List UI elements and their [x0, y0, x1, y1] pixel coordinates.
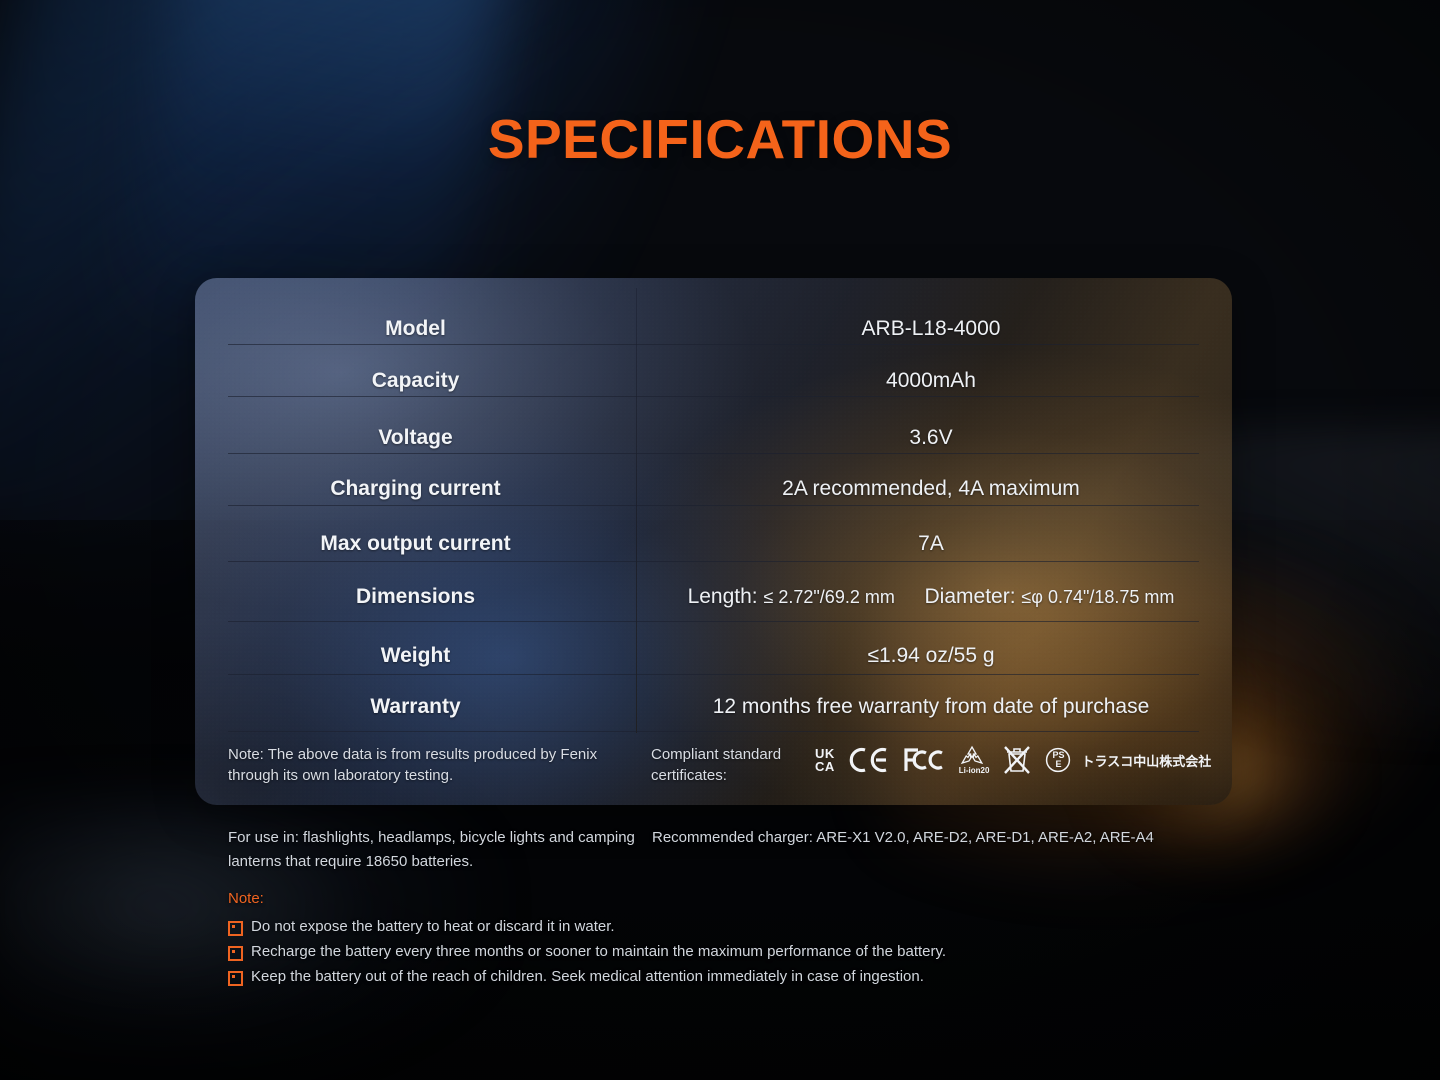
row-label: Weight	[195, 644, 636, 668]
bullet-square-icon	[228, 946, 243, 961]
spec-table: Model ARB-L18-4000 Capacity 4000mAh Volt…	[195, 278, 1232, 805]
laboratory-note: Note: The above data is from results pro…	[228, 744, 608, 786]
dimensions-diameter-value: ≤φ 0.74"/18.75 mm	[1021, 587, 1174, 607]
dimensions-length-label: Length:	[688, 585, 758, 608]
row-divider	[228, 731, 1199, 732]
for-use-in-text: For use in: flashlights, headlamps, bicy…	[228, 826, 643, 874]
specifications-page: SPECIFICATIONS Model ARB-L18-4000 Capaci…	[0, 0, 1440, 1080]
bullet-square-icon	[228, 921, 243, 936]
fcc-mark	[903, 747, 945, 773]
table-row: Model ARB-L18-4000	[195, 306, 1232, 352]
row-divider	[228, 396, 1199, 397]
row-value: ARB-L18-4000	[636, 317, 1232, 341]
row-value: ≤1.94 oz/55 g	[636, 644, 1232, 668]
row-divider	[228, 674, 1199, 675]
row-label: Warranty	[195, 695, 636, 719]
table-row: Dimensions Length: ≤ 2.72"/69.2 mm Diame…	[195, 574, 1232, 620]
row-label: Voltage	[195, 426, 636, 450]
pse-line-2: E	[1055, 760, 1061, 769]
table-row: Voltage 3.6V	[195, 415, 1232, 461]
row-label: Capacity	[195, 369, 636, 393]
pse-mark: PS E	[1045, 747, 1071, 773]
row-value: 12 months free warranty from date of pur…	[636, 695, 1232, 719]
notes-heading: Note:	[228, 890, 264, 907]
table-row: Capacity 4000mAh	[195, 358, 1232, 404]
page-title: SPECIFICATIONS	[0, 107, 1440, 171]
note-text: Keep the battery out of the reach of chi…	[251, 965, 924, 988]
row-value: 2A recommended, 4A maximum	[636, 477, 1232, 501]
table-row: Weight ≤1.94 oz/55 g	[195, 633, 1232, 679]
row-divider	[228, 505, 1199, 506]
dimensions-length-value: ≤ 2.72"/69.2 mm	[764, 587, 895, 607]
certificate-marks: UK CA	[815, 743, 1211, 777]
bullet-square-icon	[228, 971, 243, 986]
list-item: Keep the battery out of the reach of chi…	[228, 965, 1128, 990]
row-divider	[228, 344, 1199, 345]
row-value: Length: ≤ 2.72"/69.2 mm Diameter: ≤φ 0.7…	[636, 585, 1232, 609]
row-value: 3.6V	[636, 426, 1232, 450]
row-divider	[228, 621, 1199, 622]
row-value: 7A	[636, 532, 1232, 556]
specifications-panel: Model ARB-L18-4000 Capacity 4000mAh Volt…	[195, 278, 1232, 805]
notes-list: Do not expose the battery to heat or dis…	[228, 915, 1128, 990]
recycling-mark: Li-ion20	[959, 745, 990, 775]
note-text: Do not expose the battery to heat or dis…	[251, 915, 615, 938]
weee-crossed-bin-mark	[1003, 745, 1031, 775]
table-row: Warranty 12 months free warranty from da…	[195, 684, 1232, 730]
row-label: Dimensions	[195, 585, 636, 609]
dimensions-diameter-label: Diameter:	[925, 585, 1016, 608]
ukca-line-2: CA	[815, 760, 835, 773]
recycling-mark-caption: Li-ion20	[959, 766, 990, 775]
list-item: Recharge the battery every three months …	[228, 940, 1128, 965]
certificates-label: Compliant standard certificates:	[651, 744, 811, 786]
trusco-nakayama-text: トラスコ中山株式会社	[1081, 751, 1211, 770]
row-label: Max output current	[195, 532, 636, 556]
panel-footer: Note: The above data is from results pro…	[195, 734, 1232, 804]
row-divider	[228, 453, 1199, 454]
list-item: Do not expose the battery to heat or dis…	[228, 915, 1128, 940]
note-text: Recharge the battery every three months …	[251, 940, 946, 963]
row-label: Charging current	[195, 477, 636, 501]
recommended-charger-text: Recommended charger: ARE-X1 V2.0, ARE-D2…	[652, 826, 1252, 850]
row-divider	[228, 561, 1199, 562]
ukca-mark: UK CA	[815, 747, 835, 773]
ce-mark	[849, 747, 889, 773]
row-value: 4000mAh	[636, 369, 1232, 393]
row-label: Model	[195, 317, 636, 341]
